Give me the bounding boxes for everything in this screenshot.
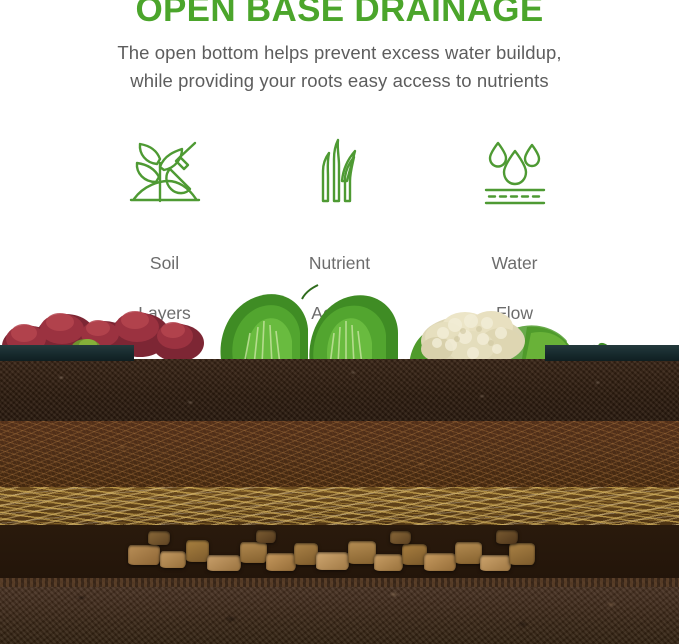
feature-label-line-1: Nutrient [252, 251, 427, 276]
ground-surface-line [0, 578, 679, 587]
feature-label-line-1: Soil [77, 251, 252, 276]
grass-blades-icon [252, 136, 427, 210]
bed-rim-right [545, 345, 679, 361]
bed-panel-right [545, 345, 679, 579]
page-title: OPEN BASE DRAINAGE [0, 0, 679, 27]
product-infographic: OPEN BASE DRAINAGE The open bottom helps… [0, 0, 679, 644]
subtitle-line-1: The open bottom helps prevent excess wat… [40, 39, 640, 67]
subtitle: The open bottom helps prevent excess wat… [40, 27, 640, 95]
ground-soil [0, 578, 679, 644]
header: OPEN BASE DRAINAGE The open bottom helps… [0, 0, 679, 95]
subtitle-line-2: while providing your roots easy access t… [40, 67, 640, 95]
feature-label-line-1: Water [427, 251, 602, 276]
bed-rim-left [0, 345, 134, 361]
water-droplets-flow-icon [427, 136, 602, 210]
soil-sprout-shovel-icon [77, 136, 252, 210]
bed-panel-left [0, 345, 134, 579]
plant-green-cabbage [214, 281, 404, 367]
raised-garden-bed-cross-section [0, 281, 679, 644]
